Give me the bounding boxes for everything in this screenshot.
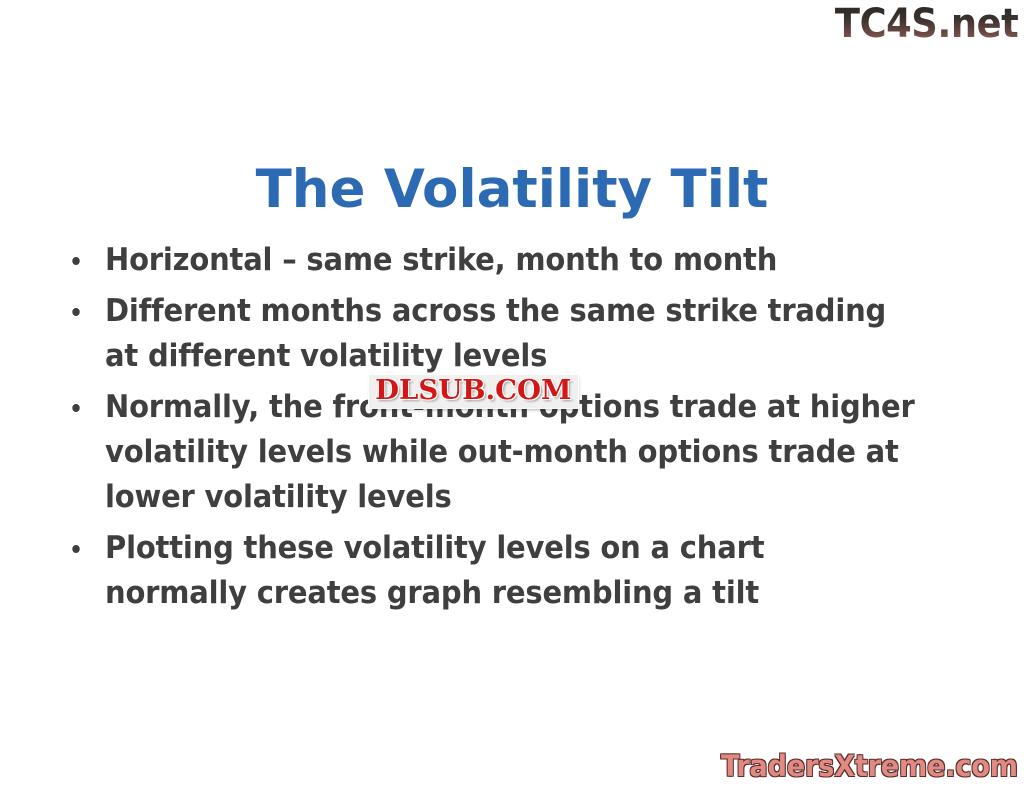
bullet-dot-icon <box>72 257 79 265</box>
list-item-text: Different months across the same strike … <box>105 293 886 374</box>
list-item: Plotting these volatility levels on a ch… <box>62 526 915 616</box>
list-item: Different months across the same strike … <box>62 289 915 379</box>
page-title: The Volatility Tilt <box>0 160 1024 220</box>
dlsub-watermark: DLSUB.COM <box>369 375 578 408</box>
bullet-dot-icon <box>72 545 79 553</box>
list-item: Horizontal – same strike, month to month <box>62 238 915 283</box>
list-item-text: Horizontal – same strike, month to month <box>105 242 777 278</box>
tc4s-brand-logo: TC4S.net <box>835 2 1018 46</box>
bullet-list: Horizontal – same strike, month to month… <box>62 238 974 622</box>
presentation-slide: TC4S.net The Volatility Tilt Horizontal … <box>0 0 1024 791</box>
bullet-dot-icon <box>72 308 79 316</box>
tradersxtreme-brand-logo: TradersXtreme.com <box>721 750 1018 782</box>
list-item-text: Plotting these volatility levels on a ch… <box>105 530 764 611</box>
bullet-dot-icon <box>72 404 79 412</box>
